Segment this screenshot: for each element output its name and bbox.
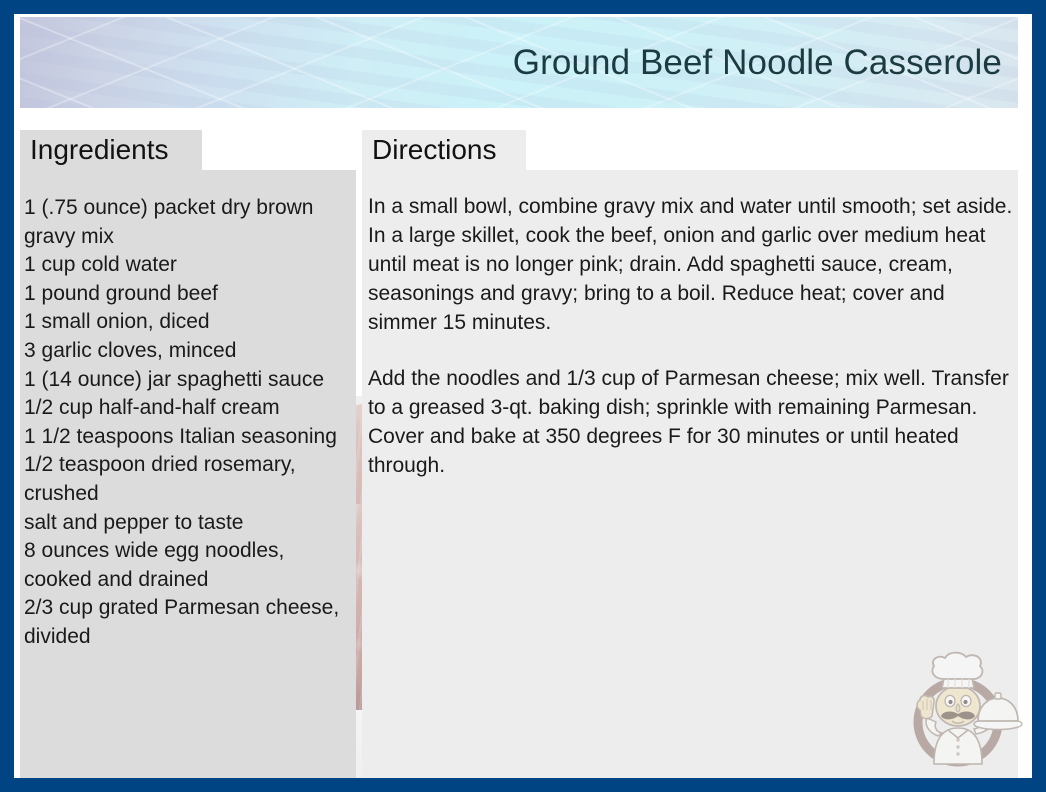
- ingredients-list: 1 (.75 ounce) packet dry brown gravy mix…: [24, 194, 354, 652]
- directions-text: In a small bowl, combine gravy mix and w…: [368, 192, 1016, 480]
- ingredients-heading: Ingredients: [20, 130, 202, 170]
- border-top: [0, 0, 1046, 14]
- border-bottom: [0, 778, 1046, 792]
- directions-heading-label: Directions: [372, 134, 496, 166]
- directions-heading: Directions: [362, 130, 526, 170]
- directions-paragraph-2: Add the noodles and 1/3 cup of Parmesan …: [368, 364, 1016, 480]
- border-right: [1032, 0, 1046, 792]
- chef-mascot-logo: [898, 648, 1026, 776]
- ingredients-heading-label: Ingredients: [30, 134, 169, 166]
- title-banner: Ground Beef Noodle Casserole: [20, 17, 1018, 108]
- directions-paragraph-1: In a small bowl, combine gravy mix and w…: [368, 192, 1016, 337]
- page-title: Ground Beef Noodle Casserole: [513, 43, 1002, 83]
- border-left: [0, 0, 14, 792]
- recipe-card-page: Ground Beef Noodle Casserole Ingredients…: [0, 0, 1046, 792]
